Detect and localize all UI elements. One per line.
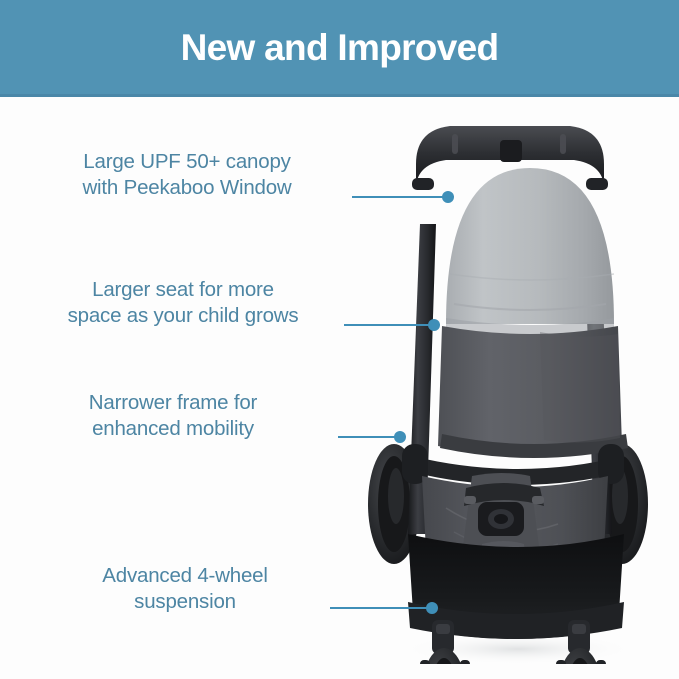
callout-frame-line1: Narrower frame for — [8, 390, 338, 416]
page-title: New and Improved — [0, 0, 679, 94]
callout-seat-line2: space as your child grows — [18, 303, 348, 329]
leader-dot-suspension — [426, 602, 438, 614]
callout-frame: Narrower frame for enhanced mobility — [8, 390, 338, 442]
leader-line-canopy — [352, 196, 448, 198]
callout-seat: Larger seat for more space as your child… — [18, 277, 348, 329]
leader-line-frame — [338, 436, 400, 438]
leader-dot-frame — [394, 431, 406, 443]
product-infographic: New and Improved — [0, 0, 679, 679]
callout-suspension-line1: Advanced 4-wheel — [20, 563, 350, 589]
leader-dot-seat — [428, 319, 440, 331]
callout-canopy: Large UPF 50+ canopy with Peekaboo Windo… — [22, 149, 352, 201]
callout-seat-line1: Larger seat for more — [18, 277, 348, 303]
stroller-photo — [350, 104, 670, 664]
leader-dot-canopy — [442, 191, 454, 203]
leader-line-seat — [344, 324, 434, 326]
callout-canopy-line2: with Peekaboo Window — [22, 175, 352, 201]
callout-suspension: Advanced 4-wheel suspension — [20, 563, 350, 615]
callout-suspension-line2: suspension — [20, 589, 350, 615]
callout-frame-line2: enhanced mobility — [8, 416, 338, 442]
callout-canopy-line1: Large UPF 50+ canopy — [22, 149, 352, 175]
